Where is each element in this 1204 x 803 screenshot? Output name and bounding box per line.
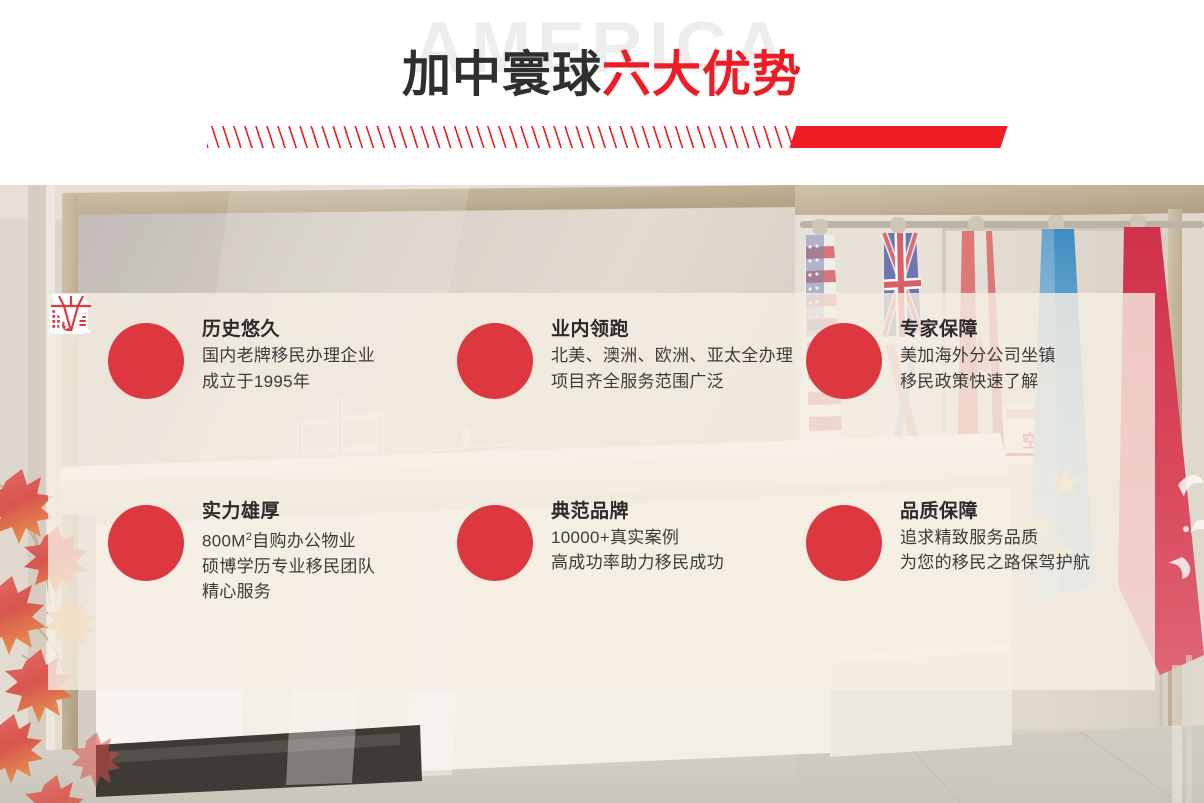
feature-text: 历史悠久 国内老牌移民办理企业 成立于1995年 — [202, 315, 375, 394]
feature-item[interactable]: 典范品牌 10000+真实案例 高成功率助力移民成功 — [457, 497, 806, 691]
feature-line: 美加海外分公司坐镇 — [900, 343, 1056, 369]
divider-stripes — [207, 126, 797, 148]
feature-title: 典范品牌 — [551, 499, 724, 525]
feature-line: 项目齐全服务范围广泛 — [551, 369, 793, 395]
feature-line: 移民政策快速了解 — [900, 369, 1056, 395]
building-icon — [108, 505, 184, 581]
page-title-red: 六大优势 — [602, 47, 802, 103]
feature-text: 实力雄厚 800M2自购办公物业 硕博学历专业移民团队 精心服务 — [202, 497, 375, 605]
feature-text: 品质保障 追求精致服务品质 为您的移民之路保驾护航 — [900, 497, 1090, 576]
feature-line: 追求精致服务品质 — [900, 525, 1090, 551]
medal-icon — [457, 505, 533, 581]
feature-item[interactable]: 专家保障 美加海外分公司坐镇 移民政策快速了解 — [806, 315, 1155, 503]
feature-title: 专家保障 — [900, 317, 1056, 343]
feature-item[interactable]: 历史悠久 国内老牌移民办理企业 成立于1995年 — [108, 315, 457, 503]
feature-line: 国内老牌移民办理企业 — [202, 343, 375, 369]
feature-text: 典范品牌 10000+真实案例 高成功率助力移民成功 — [551, 497, 724, 576]
page-title-dark: 加中寰球 — [402, 47, 602, 103]
feature-line: 成立于1995年 — [202, 369, 375, 395]
feature-title: 业内领跑 — [551, 317, 793, 343]
feature-item[interactable]: 实力雄厚 800M2自购办公物业 硕博学历专业移民团队 精心服务 — [108, 497, 457, 691]
pyramid-icon — [457, 323, 533, 399]
feature-title: 实力雄厚 — [202, 499, 375, 525]
divider-block — [789, 126, 1007, 148]
hourglass-icon — [108, 323, 184, 399]
area-suffix: 自购办公物业 — [252, 531, 356, 550]
feature-text: 业内领跑 北美、澳洲、欧洲、亚太全办理 项目齐全服务范围广泛 — [551, 315, 793, 394]
feature-line: 10000+真实案例 — [551, 525, 724, 551]
feature-item[interactable]: 品质保障 追求精致服务品质 为您的移民之路保驾护航 — [806, 497, 1155, 691]
divider — [207, 126, 997, 148]
feature-line: 精心服务 — [202, 579, 375, 605]
feature-line: 高成功率助力移民成功 — [551, 550, 724, 576]
feature-title: 品质保障 — [900, 499, 1090, 525]
page-title: 加中寰球六大优势 — [0, 47, 1204, 103]
features-grid: 历史悠久 国内老牌移民办理企业 成立于1995年 业内领跑 北美、澳洲、欧洲、亚… — [48, 293, 1155, 690]
feature-title: 历史悠久 — [202, 317, 375, 343]
feature-item[interactable]: 业内领跑 北美、澳洲、欧洲、亚太全办理 项目齐全服务范围广泛 — [457, 315, 806, 503]
area-prefix: 800M — [202, 531, 246, 550]
feature-line: 北美、澳洲、欧洲、亚太全办理 — [551, 343, 793, 369]
feature-text: 专家保障 美加海外分公司坐镇 移民政策快速了解 — [900, 315, 1056, 394]
feature-line: 为您的移民之路保驾护航 — [900, 550, 1090, 576]
head-gears-icon — [806, 323, 882, 399]
background-photo: 空调 — [0, 185, 1204, 803]
feature-line-area: 800M2自购办公物业 — [202, 525, 375, 554]
page-header: AMERICA 加中寰球六大优势 — [0, 0, 1204, 185]
feature-line: 硕博学历专业移民团队 — [202, 554, 375, 580]
diamond-icon — [806, 505, 882, 581]
